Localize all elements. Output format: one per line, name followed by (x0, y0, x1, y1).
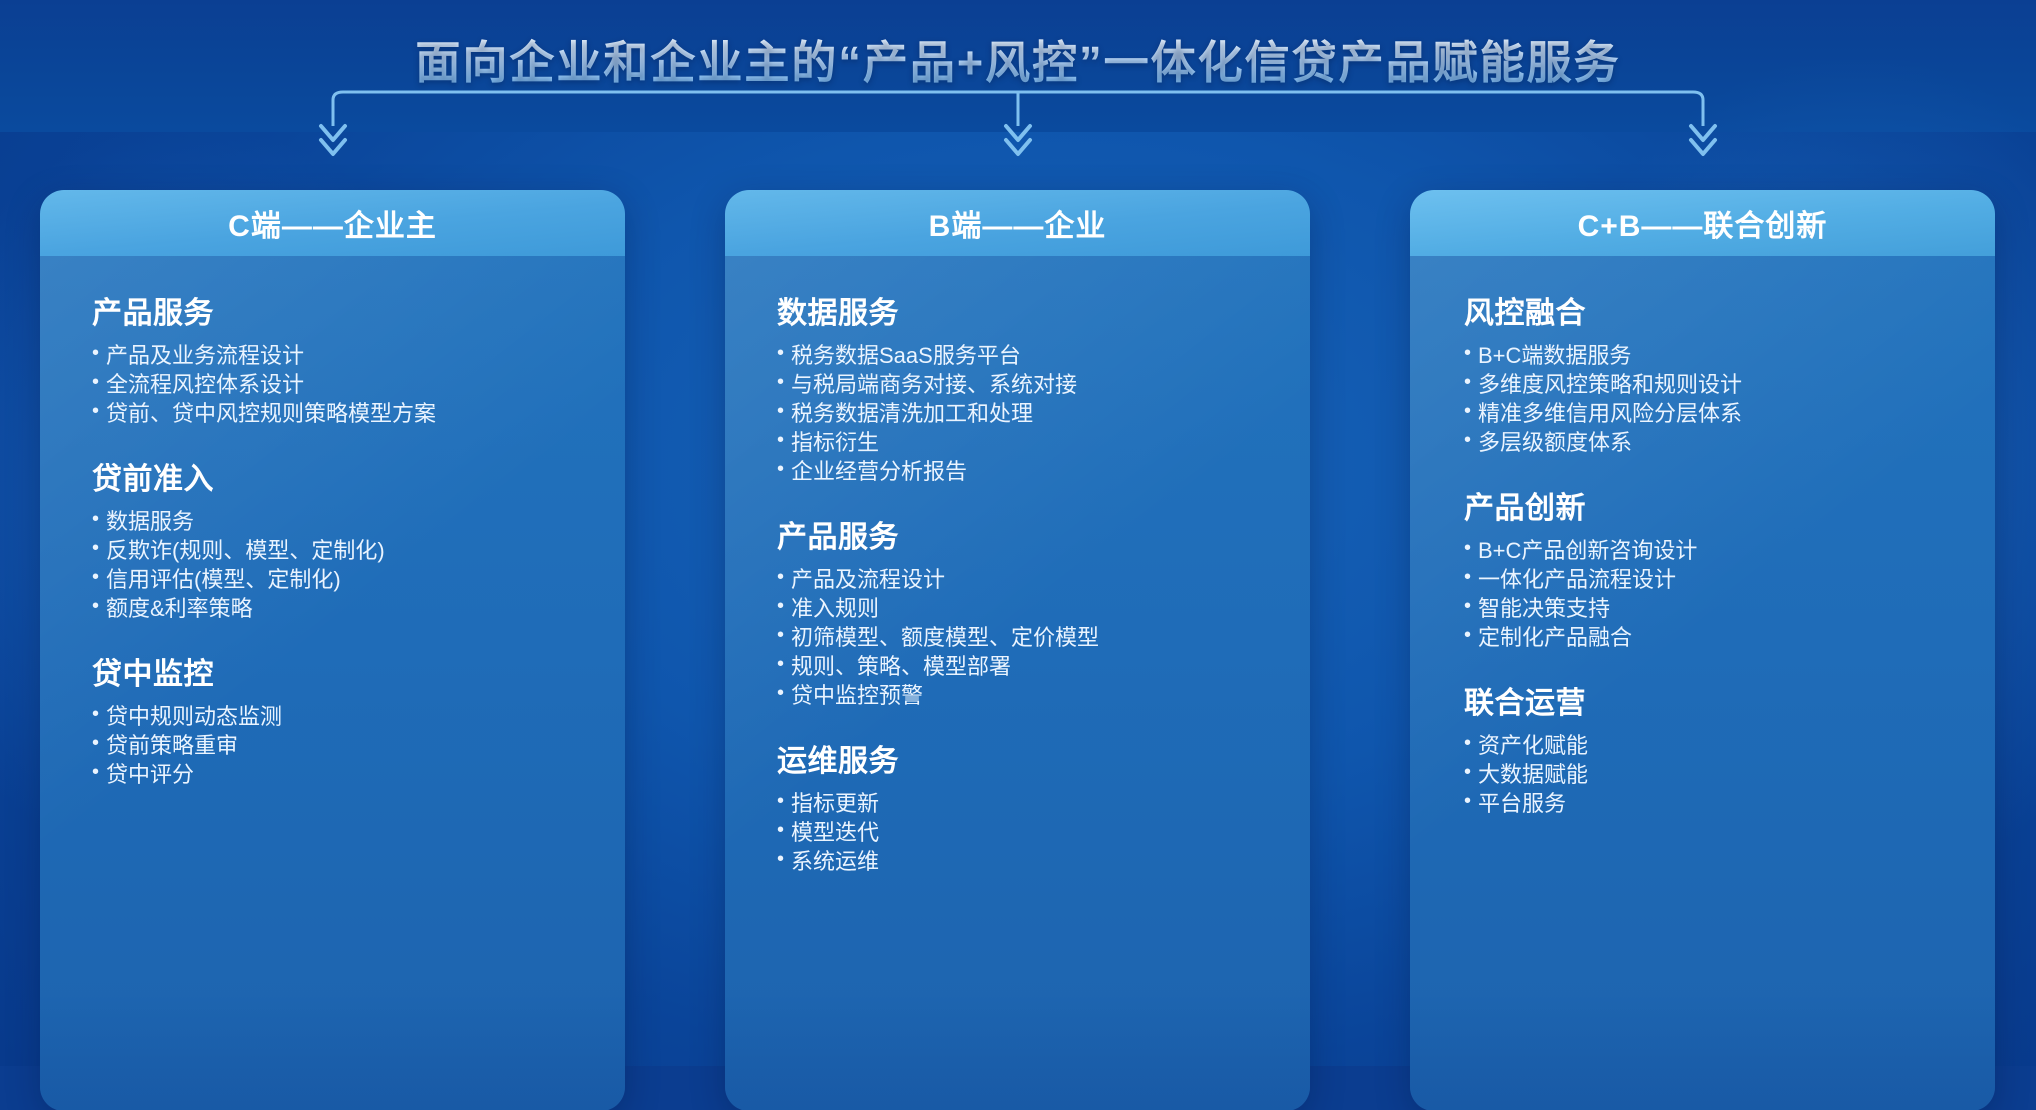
group-title: 风控融合 (1464, 288, 1961, 332)
cards-row: C端——企业主 产品服务 产品及业务流程设计 全流程风控体系设计 贷前、贷中风控… (40, 190, 1996, 1110)
group-title: 联合运营 (1464, 678, 1961, 722)
list-item: 与税局端商务对接、系统对接 (777, 370, 1276, 399)
group-title: 运维服务 (777, 736, 1276, 780)
group-block: 贷前准入 数据服务 反欺诈(规则、模型、定制化) 信用评估(模型、定制化) 额度… (92, 454, 591, 623)
group-title: 数据服务 (777, 288, 1276, 332)
list-item: 贷中监控预警 (777, 681, 1276, 710)
list-item: 系统运维 (777, 847, 1276, 876)
card-c-end[interactable]: C端——企业主 产品服务 产品及业务流程设计 全流程风控体系设计 贷前、贷中风控… (40, 190, 625, 1110)
group-block: 产品创新 B+C产品创新咨询设计 一体化产品流程设计 智能决策支持 定制化产品融… (1464, 483, 1961, 652)
list-item: 指标更新 (777, 789, 1276, 818)
list-item: 数据服务 (92, 507, 591, 536)
list-item: 反欺诈(规则、模型、定制化) (92, 536, 591, 565)
list-item: B+C端数据服务 (1464, 341, 1961, 370)
card-body-cb-end: 风控融合 B+C端数据服务 多维度风控策略和规则设计 精准多维信用风险分层体系 … (1410, 256, 1995, 1110)
list-item: 企业经营分析报告 (777, 457, 1276, 486)
bullet-list: B+C端数据服务 多维度风控策略和规则设计 精准多维信用风险分层体系 多层级额度… (1464, 341, 1961, 457)
list-item: 规则、策略、模型部署 (777, 652, 1276, 681)
group-title: 产品服务 (92, 288, 591, 332)
list-item: 定制化产品融合 (1464, 623, 1961, 652)
group-block: 产品服务 产品及业务流程设计 全流程风控体系设计 贷前、贷中风控规则策略模型方案 (92, 288, 591, 428)
bullet-list: 资产化赋能 大数据赋能 平台服务 (1464, 731, 1961, 818)
list-item: 准入规则 (777, 594, 1276, 623)
list-item: 大数据赋能 (1464, 760, 1961, 789)
card-header-cb-end: C+B——联合创新 (1410, 190, 1995, 256)
bullet-list: 数据服务 反欺诈(规则、模型、定制化) 信用评估(模型、定制化) 额度&利率策略 (92, 507, 591, 623)
group-block: 产品服务 产品及流程设计 准入规则 初筛模型、额度模型、定价模型 规则、策略、模… (777, 512, 1276, 710)
list-item: 额度&利率策略 (92, 594, 591, 623)
list-item: 贷前策略重审 (92, 731, 591, 760)
connector-bracket (0, 88, 2036, 160)
card-header-b-end: B端——企业 (725, 190, 1310, 256)
list-item: 多层级额度体系 (1464, 428, 1961, 457)
list-item: 信用评估(模型、定制化) (92, 565, 591, 594)
bullet-list: 产品及业务流程设计 全流程风控体系设计 贷前、贷中风控规则策略模型方案 (92, 341, 591, 428)
bullet-list: 产品及流程设计 准入规则 初筛模型、额度模型、定价模型 规则、策略、模型部署 贷… (777, 565, 1276, 710)
group-block: 运维服务 指标更新 模型迭代 系统运维 (777, 736, 1276, 876)
list-item: 指标衍生 (777, 428, 1276, 457)
list-item: 全流程风控体系设计 (92, 370, 591, 399)
list-item: 税务数据SaaS服务平台 (777, 341, 1276, 370)
page-title: 面向企业和企业主的“产品+风控”一体化信贷产品赋能服务 (0, 26, 2036, 91)
list-item: B+C产品创新咨询设计 (1464, 536, 1961, 565)
group-title: 贷前准入 (92, 454, 591, 498)
bullet-list: 税务数据SaaS服务平台 与税局端商务对接、系统对接 税务数据清洗加工和处理 指… (777, 341, 1276, 486)
list-item: 一体化产品流程设计 (1464, 565, 1961, 594)
list-item: 贷中评分 (92, 760, 591, 789)
list-item: 资产化赋能 (1464, 731, 1961, 760)
list-item: 产品及业务流程设计 (92, 341, 591, 370)
group-block: 贷中监控 贷中规则动态监测 贷前策略重审 贷中评分 (92, 649, 591, 789)
slide-root: 面向企业和企业主的“产品+风控”一体化信贷产品赋能服务 C端——企业主 产品服务 (0, 0, 2036, 1110)
card-b-end[interactable]: B端——企业 数据服务 税务数据SaaS服务平台 与税局端商务对接、系统对接 税… (725, 190, 1310, 1110)
group-title: 产品创新 (1464, 483, 1961, 527)
list-item: 税务数据清洗加工和处理 (777, 399, 1276, 428)
list-item: 贷前、贷中风控规则策略模型方案 (92, 399, 591, 428)
group-title: 产品服务 (777, 512, 1276, 556)
list-item: 多维度风控策略和规则设计 (1464, 370, 1961, 399)
group-block: 风控融合 B+C端数据服务 多维度风控策略和规则设计 精准多维信用风险分层体系 … (1464, 288, 1961, 457)
list-item: 模型迭代 (777, 818, 1276, 847)
double-chevron-down-icon (321, 126, 1715, 154)
card-cb-end[interactable]: C+B——联合创新 风控融合 B+C端数据服务 多维度风控策略和规则设计 精准多… (1410, 190, 1995, 1110)
bullet-list: 贷中规则动态监测 贷前策略重审 贷中评分 (92, 702, 591, 789)
group-block: 联合运营 资产化赋能 大数据赋能 平台服务 (1464, 678, 1961, 818)
list-item: 智能决策支持 (1464, 594, 1961, 623)
list-item: 精准多维信用风险分层体系 (1464, 399, 1961, 428)
group-block: 数据服务 税务数据SaaS服务平台 与税局端商务对接、系统对接 税务数据清洗加工… (777, 288, 1276, 486)
group-title: 贷中监控 (92, 649, 591, 693)
list-item: 初筛模型、额度模型、定价模型 (777, 623, 1276, 652)
list-item: 平台服务 (1464, 789, 1961, 818)
card-header-c-end: C端——企业主 (40, 190, 625, 256)
list-item: 贷中规则动态监测 (92, 702, 591, 731)
list-item: 产品及流程设计 (777, 565, 1276, 594)
bullet-list: B+C产品创新咨询设计 一体化产品流程设计 智能决策支持 定制化产品融合 (1464, 536, 1961, 652)
card-body-c-end: 产品服务 产品及业务流程设计 全流程风控体系设计 贷前、贷中风控规则策略模型方案… (40, 256, 625, 1110)
card-body-b-end: 数据服务 税务数据SaaS服务平台 与税局端商务对接、系统对接 税务数据清洗加工… (725, 256, 1310, 1110)
bullet-list: 指标更新 模型迭代 系统运维 (777, 789, 1276, 876)
